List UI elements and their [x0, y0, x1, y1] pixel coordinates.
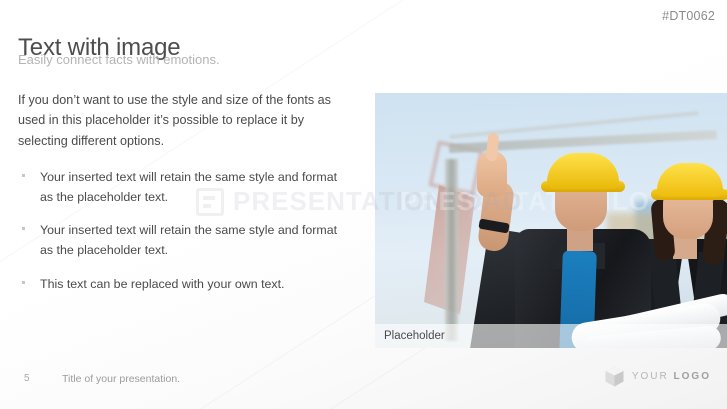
footer-logo-text: YOUR LOGO	[632, 371, 711, 382]
slide-subtitle: Easily connect facts with emotions.	[18, 52, 220, 67]
image-placeholder[interactable]: PRESENTATIONLOAD Placeholder	[375, 93, 727, 348]
photo-crane-mast	[445, 159, 458, 341]
footer-logo: YOUR LOGO	[605, 366, 711, 387]
image-caption-text: Placeholder	[375, 330, 445, 342]
intro-paragraph: If you don’t want to use the style and s…	[18, 90, 338, 151]
bullet-dot-icon	[22, 227, 25, 230]
footer-logo-word-1: YOUR	[632, 371, 669, 382]
footer-logo-word-2: LOGO	[674, 371, 711, 382]
presentation-slide: #DT0062 Text with image Easily connect f…	[0, 0, 727, 409]
footer-presentation-title: Title of your presentation.	[62, 373, 180, 385]
bullet-dot-icon	[22, 174, 25, 177]
bullet-dot-icon	[22, 281, 25, 284]
document-id: #DT0062	[662, 9, 715, 23]
image-caption-bar[interactable]: Placeholder	[375, 324, 727, 348]
list-item: This text can be replaced with your own …	[18, 274, 338, 294]
cube-logo-icon	[605, 366, 624, 387]
bullet-list: Your inserted text will retain the same …	[18, 167, 338, 293]
list-item-text: Your inserted text will retain the same …	[40, 223, 337, 257]
list-item-text: This text can be replaced with your own …	[40, 277, 285, 291]
list-item-text: Your inserted text will retain the same …	[40, 170, 337, 204]
list-item: Your inserted text will retain the same …	[18, 167, 338, 207]
list-item: Your inserted text will retain the same …	[18, 220, 338, 260]
text-content-column: If you don’t want to use the style and s…	[18, 90, 338, 307]
page-number: 5	[24, 373, 30, 384]
